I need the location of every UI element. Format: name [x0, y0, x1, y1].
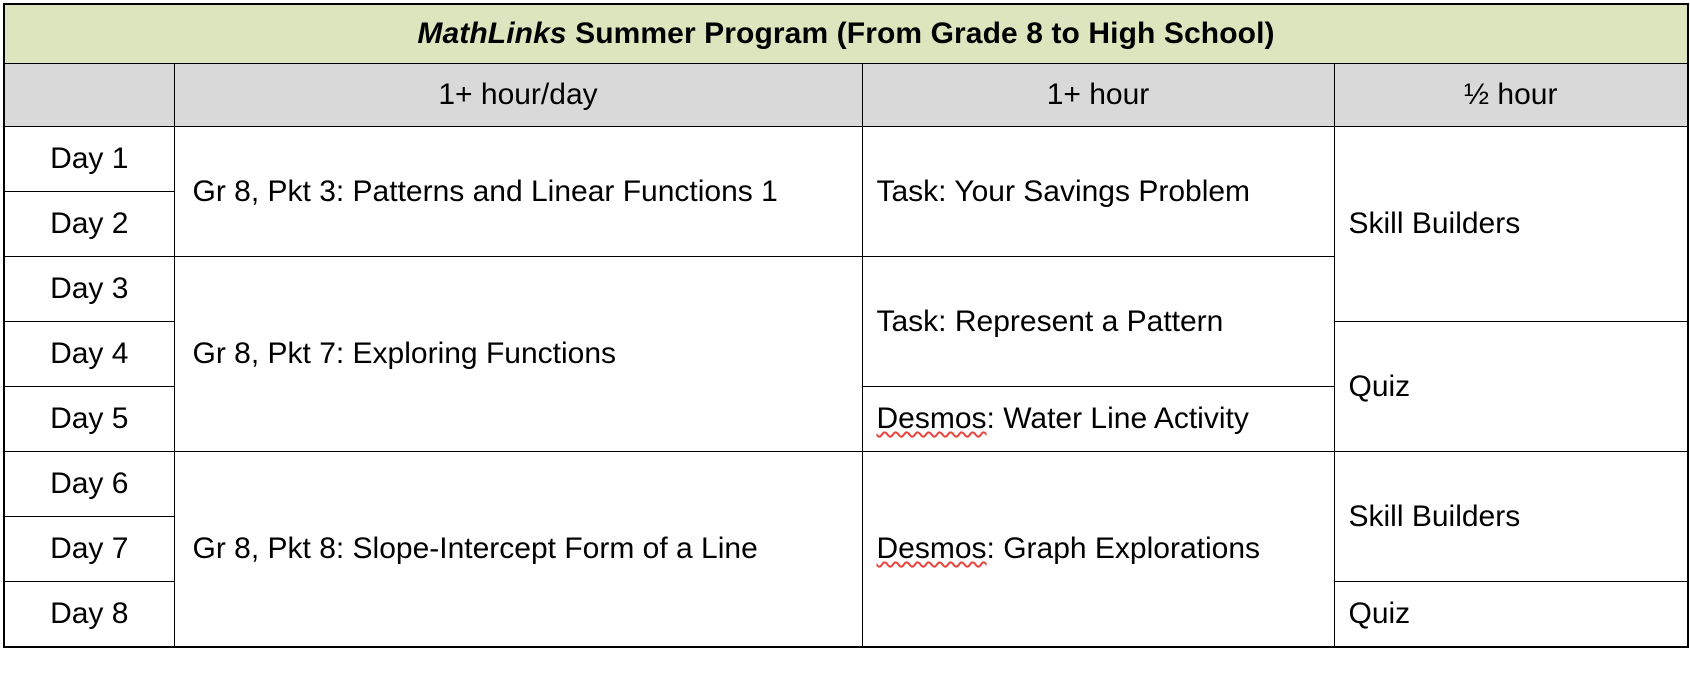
task-cell-2: Task: Represent a Pattern — [862, 257, 1334, 387]
task-cell-4: Desmos: Graph Explorations — [862, 452, 1334, 648]
misspelled-word: Desmos — [877, 402, 987, 435]
packet-cell-1: Gr 8, Pkt 3: Patterns and Linear Functio… — [174, 127, 862, 257]
title-row: MathLinks Summer Program (From Grade 8 t… — [4, 4, 1688, 64]
day-label-5: Day 5 — [4, 387, 174, 452]
day-label-8: Day 8 — [4, 582, 174, 648]
summer-program-schedule-table: MathLinks Summer Program (From Grade 8 t… — [3, 3, 1689, 648]
schedule-sheet: MathLinks Summer Program (From Grade 8 t… — [0, 3, 1690, 698]
day-label-1: Day 1 — [4, 127, 174, 192]
packet-cell-2: Gr 8, Pkt 7: Exploring Functions — [174, 257, 862, 452]
header-col-task: 1+ hour — [862, 64, 1334, 127]
title-brand: MathLinks — [417, 17, 566, 50]
skill-cell-2: Quiz — [1334, 322, 1688, 452]
skill-cell-3: Skill Builders — [1334, 452, 1688, 582]
day-label-3: Day 3 — [4, 257, 174, 322]
packet-cell-3: Gr 8, Pkt 8: Slope-Intercept Form of a L… — [174, 452, 862, 648]
table-row: Day 1 Gr 8, Pkt 3: Patterns and Linear F… — [4, 127, 1688, 192]
day-label-6: Day 6 — [4, 452, 174, 517]
header-day-column — [4, 64, 174, 127]
header-col-skill: ½ hour — [1334, 64, 1688, 127]
day-label-4: Day 4 — [4, 322, 174, 387]
page-title: MathLinks Summer Program (From Grade 8 t… — [4, 4, 1688, 64]
day-label-2: Day 2 — [4, 192, 174, 257]
header-row: 1+ hour/day 1+ hour ½ hour — [4, 64, 1688, 127]
misspelled-word: Desmos — [877, 532, 987, 565]
task-cell-1: Task: Your Savings Problem — [862, 127, 1334, 257]
task-cell-3-rest: : Water Line Activity — [987, 402, 1249, 435]
header-col-main: 1+ hour/day — [174, 64, 862, 127]
skill-cell-1: Skill Builders — [1334, 127, 1688, 322]
day-label-7: Day 7 — [4, 517, 174, 582]
skill-cell-4: Quiz — [1334, 582, 1688, 648]
title-rest: Summer Program (From Grade 8 to High Sch… — [567, 17, 1275, 50]
table-row: Day 6 Gr 8, Pkt 8: Slope-Intercept Form … — [4, 452, 1688, 517]
task-cell-4-rest: : Graph Explorations — [987, 532, 1260, 565]
task-cell-3: Desmos: Water Line Activity — [862, 387, 1334, 452]
